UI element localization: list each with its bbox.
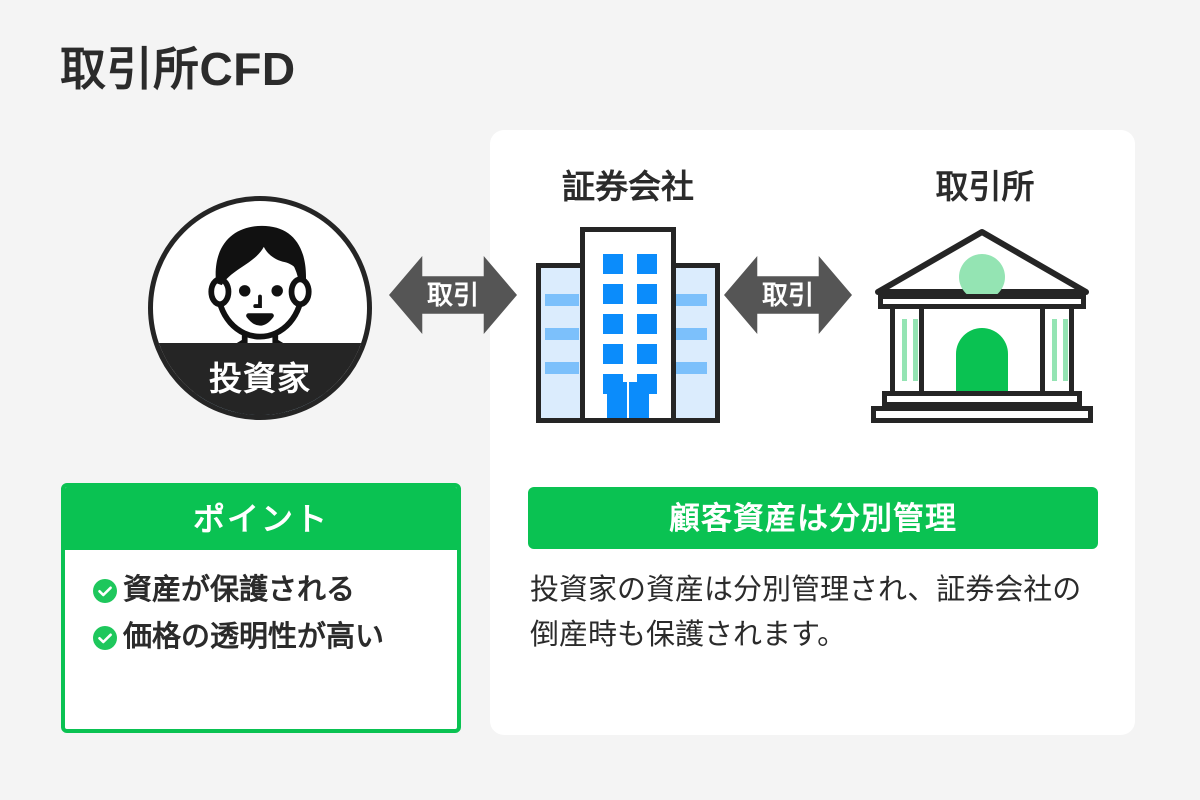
point-item-label: 資産が保護される — [123, 576, 355, 605]
arrow-right-label: 取引 — [724, 256, 852, 334]
info-description: 投資家の資産は分別管理され、証券会社の倒産時も保護されます。 — [530, 568, 1100, 658]
investor-label: 投資家 — [209, 362, 311, 397]
securities-company-caption: 証券会社 — [508, 170, 748, 203]
investor-label-band: 投資家 — [153, 343, 367, 415]
exchange-caption: 取引所 — [865, 170, 1105, 203]
exchange-column-left — [890, 309, 924, 392]
exchange-architrave — [878, 294, 1086, 309]
point-box-title: ポイント — [193, 503, 329, 535]
check-circle-icon — [93, 579, 117, 603]
exchange-door-icon — [956, 328, 1008, 392]
arrow-left-label: 取引 — [389, 256, 517, 334]
building-tower — [580, 227, 676, 423]
arrow-investor-securities: 取引 — [389, 256, 517, 334]
list-item: 価格の透明性が高い — [93, 623, 457, 652]
exchange-base-lower — [871, 406, 1093, 423]
infographic-canvas: 取引所CFD 投資家 — [0, 0, 1200, 800]
investor-avatar: 投資家 — [148, 196, 372, 420]
point-box: ポイント 資産が保護される 価格の透明性が高い — [61, 483, 461, 733]
exchange-base-upper — [882, 391, 1082, 407]
info-banner-label: 顧客資産は分別管理 — [669, 503, 957, 534]
check-circle-icon — [93, 626, 117, 650]
point-box-header: ポイント — [65, 487, 457, 550]
info-banner: 顧客資産は分別管理 — [528, 487, 1098, 549]
office-building-icon — [536, 227, 720, 423]
exchange-bank-icon — [868, 228, 1096, 423]
point-box-body: 資産が保護される 価格の透明性が高い — [65, 550, 457, 652]
point-item-label: 価格の透明性が高い — [123, 623, 384, 652]
page-title: 取引所CFD — [60, 44, 296, 95]
arrow-securities-exchange: 取引 — [724, 256, 852, 334]
exchange-column-right — [1040, 309, 1074, 392]
list-item: 資産が保護される — [93, 576, 457, 605]
